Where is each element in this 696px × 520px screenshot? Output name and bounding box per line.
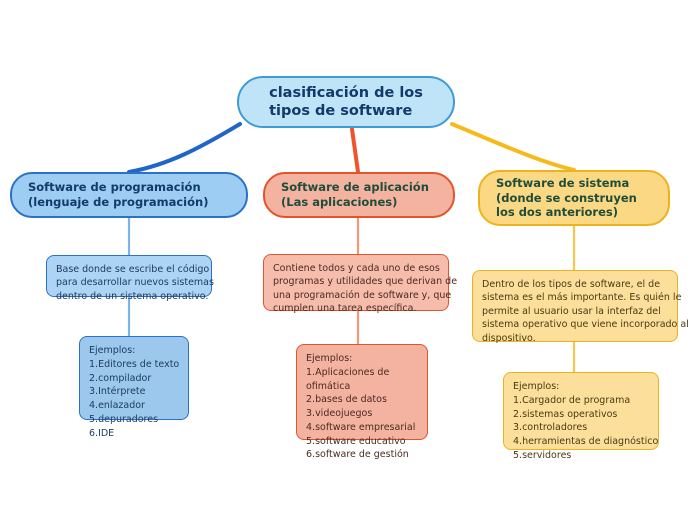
examples-programacion-item-6: 6.IDE [89, 427, 179, 441]
description-sistema-line-1: Dentro de los tipos de software, el de [482, 278, 668, 291]
examples-sistema-heading: Ejemplos: [513, 380, 649, 394]
node-branch-programacion[interactable]: Software de programación (lenguaje de pr… [10, 172, 248, 218]
examples-sistema-item-5: 5.servidores [513, 449, 649, 463]
description-aplicacion-line-1: Contiene todos y cada uno de esos [273, 262, 439, 275]
root-title-line-2: tipos de software [269, 102, 423, 120]
description-sistema-line-4: sistema operativo que viene incorporado … [482, 318, 668, 331]
branch-sistema-title-line-3: los dos anteriores) [496, 205, 618, 220]
description-programacion-line-2: para desarrollar nuevos sistemas [56, 276, 202, 289]
description-aplicacion-line-2: programas y utilidades que derivan de [273, 275, 439, 288]
branch-sistema-title-line-2: (donde se construyen [496, 191, 637, 206]
node-examples-programacion[interactable]: Ejemplos: 1.Editores de texto 2.compilad… [79, 336, 189, 420]
examples-aplicacion-item-1-wrap: ofimática [306, 380, 418, 394]
node-root[interactable]: clasificación de los tipos de software [237, 76, 455, 128]
description-aplicacion-line-3: una programación de software y, que [273, 289, 439, 302]
description-programacion-line-1: Base donde se escribe el código [56, 263, 202, 276]
node-description-programacion[interactable]: Base donde se escribe el código para des… [46, 255, 212, 297]
examples-aplicacion-item-1: 1.Aplicaciones de [306, 366, 418, 380]
edge-root-to-programacion [129, 124, 240, 172]
examples-aplicacion-heading: Ejemplos: [306, 352, 418, 366]
examples-sistema-item-3: 3.controladores [513, 421, 649, 435]
examples-programacion-item-1: 1.Editores de texto [89, 358, 179, 372]
examples-aplicacion-item-6: 6.software de gestión [306, 448, 418, 462]
root-title-line-1: clasificación de los [269, 84, 423, 102]
node-branch-aplicacion[interactable]: Software de aplicación (Las aplicaciones… [263, 172, 455, 218]
branch-aplicacion-title-line-2: (Las aplicaciones) [281, 195, 397, 210]
edge-root-to-sistema [452, 124, 574, 170]
description-aplicacion-line-4: cumplen una tarea específica. [273, 302, 439, 315]
examples-programacion-item-5: 5.depuradores [89, 413, 179, 427]
examples-aplicacion-item-2: 2.bases de datos [306, 393, 418, 407]
description-programacion-line-3: dentro de un sistema operativo. [56, 290, 202, 303]
examples-programacion-item-4: 4.enlazador [89, 399, 179, 413]
branch-aplicacion-title-line-1: Software de aplicación [281, 180, 429, 195]
branch-sistema-title-line-1: Software de sistema [496, 176, 629, 191]
description-sistema-line-2: sistema es el más importante. Es quién l… [482, 291, 668, 304]
node-examples-aplicacion[interactable]: Ejemplos: 1.Aplicaciones de ofimática 2.… [296, 344, 428, 440]
examples-aplicacion-item-3: 3.videojuegos [306, 407, 418, 421]
examples-programacion-item-2: 2.compilador [89, 372, 179, 386]
node-branch-sistema[interactable]: Software de sistema (donde se construyen… [478, 170, 670, 226]
examples-sistema-item-4: 4.herramientas de diagnóstico [513, 435, 649, 449]
node-description-sistema[interactable]: Dentro de los tipos de software, el de s… [472, 270, 678, 342]
description-sistema-line-5: dispositivo. [482, 332, 668, 345]
description-sistema-line-3: permite al usuario usar la interfaz del [482, 305, 668, 318]
edge-root-to-aplicacion [352, 129, 358, 172]
branch-programacion-title-line-2: (lenguaje de programación) [28, 195, 208, 210]
examples-aplicacion-item-4: 4.software empresarial [306, 421, 418, 435]
examples-programacion-item-3: 3.Intérprete [89, 385, 179, 399]
examples-programacion-heading: Ejemplos: [89, 344, 179, 358]
examples-sistema-item-1: 1.Cargador de programa [513, 394, 649, 408]
examples-aplicacion-item-5: 5.software educativo [306, 435, 418, 449]
branch-programacion-title-line-1: Software de programación [28, 180, 201, 195]
node-examples-sistema[interactable]: Ejemplos: 1.Cargador de programa 2.siste… [503, 372, 659, 450]
node-description-aplicacion[interactable]: Contiene todos y cada uno de esos progra… [263, 254, 449, 311]
examples-sistema-item-2: 2.sistemas operativos [513, 408, 649, 422]
mindmap-canvas: clasificación de los tipos de software S… [0, 0, 696, 520]
